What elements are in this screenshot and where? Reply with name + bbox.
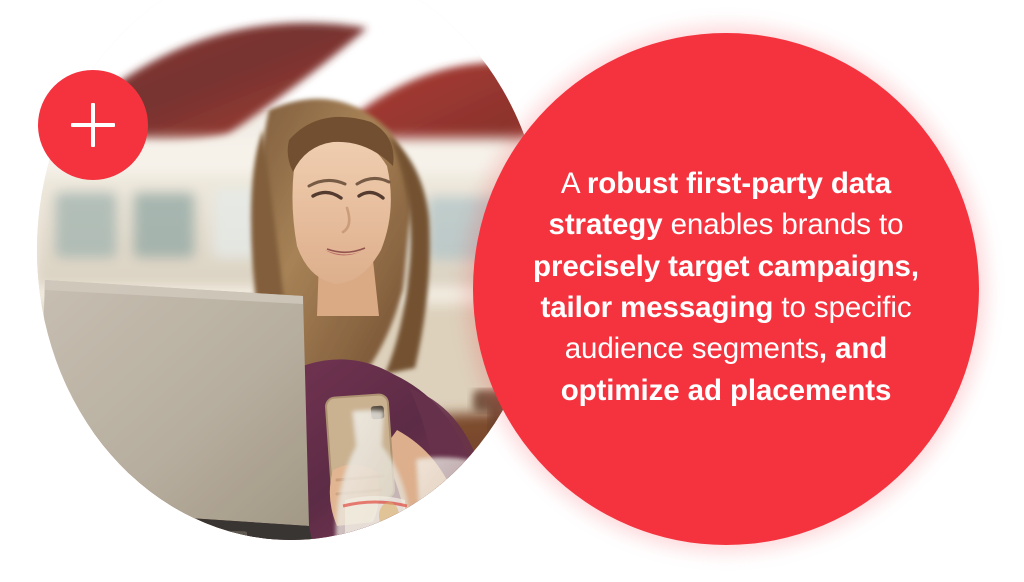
callout-segment-0: A [561,167,587,200]
callout-text: A robust first-party data strategy enabl… [511,163,941,415]
callout-circle: A robust first-party data strategy enabl… [473,33,979,545]
plus-badge-button[interactable] [38,70,148,180]
infographic-card: A robust first-party data strategy enabl… [0,0,1024,582]
plus-icon [71,103,115,147]
callout-segment-2: enables brands to [663,208,904,241]
